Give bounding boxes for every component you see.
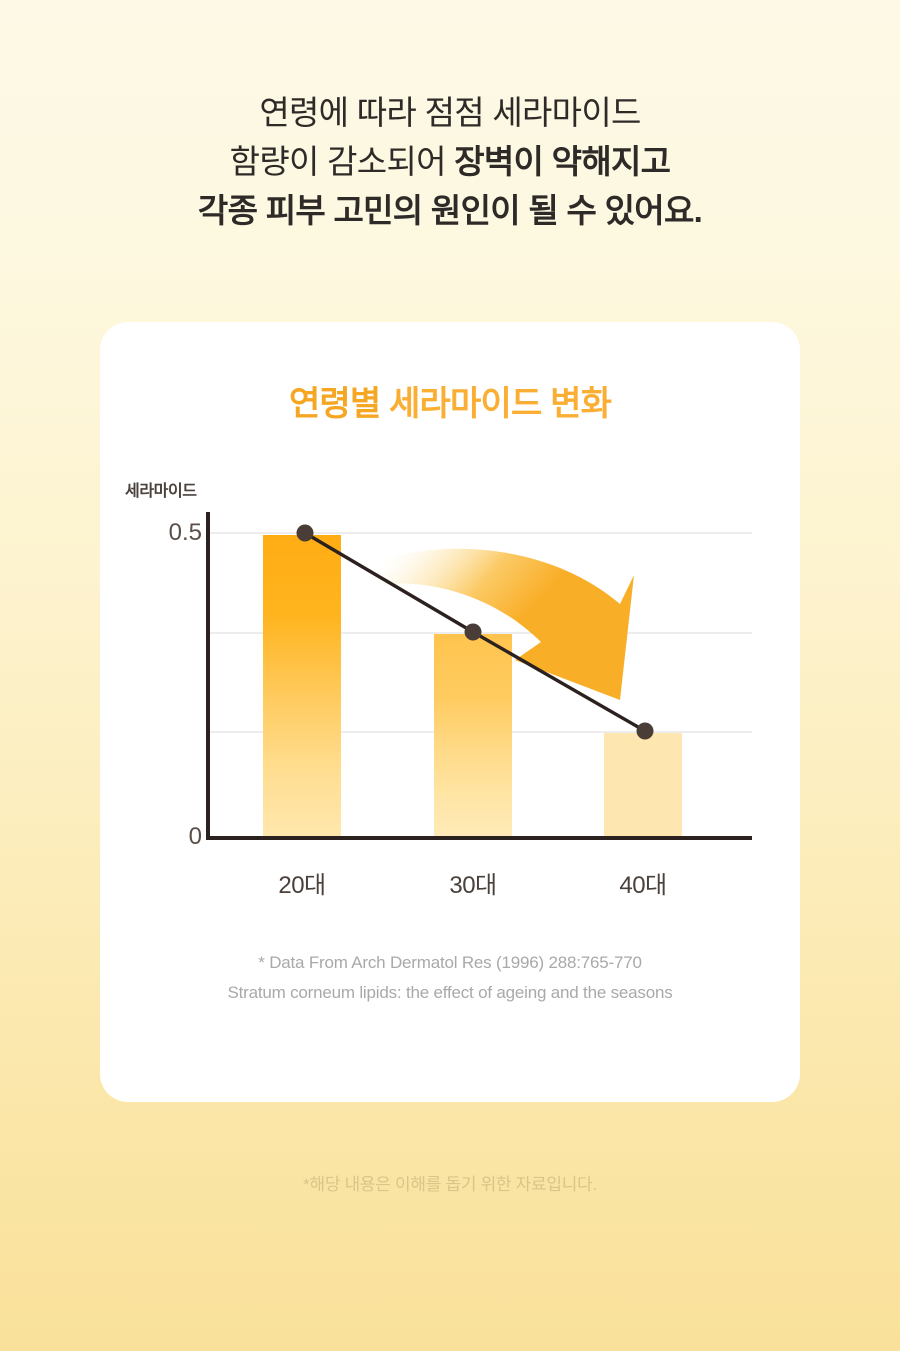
chart-card: 연령별 세라마이드 변화 세라마이드 0.5 0 <box>100 322 800 1102</box>
chart-source-footnote: * Data From Arch Dermatol Res (1996) 288… <box>100 948 800 1008</box>
footnote-line-2: Stratum corneum lipids: the effect of ag… <box>100 978 800 1008</box>
y-axis-line <box>206 512 210 840</box>
bar-30s <box>434 634 512 840</box>
y-axis-label: 세라마이드 <box>125 477 197 501</box>
headline-line-3-text: 각종 피부 고민의 원인이 될 수 있어요. <box>198 192 702 229</box>
gridline-upper <box>208 532 752 534</box>
y-tick-label-bottom: 0 <box>120 823 202 851</box>
bar-40s <box>604 733 682 840</box>
x-tick-label-30s: 30대 <box>403 865 543 900</box>
y-tick-label-top: 0.5 <box>120 519 202 547</box>
bar-20s <box>263 535 341 840</box>
headline-line-2: 함량이 감소되어 장벽이 약해지고 <box>0 137 900 186</box>
headline-line-3: 각종 피부 고민의 원인이 될 수 있어요. <box>0 186 900 235</box>
disclaimer-note: *해당 내용은 이해를 돕기 위한 자료입니다. <box>0 1170 900 1195</box>
x-tick-label-20s: 20대 <box>232 865 372 900</box>
headline: 연령에 따라 점점 세라마이드 함량이 감소되어 장벽이 약해지고 각종 피부 … <box>0 88 900 235</box>
footnote-line-1: * Data From Arch Dermatol Res (1996) 288… <box>100 948 800 978</box>
headline-line-1: 연령에 따라 점점 세라마이드 <box>0 88 900 137</box>
x-tick-label-40s: 40대 <box>573 865 713 900</box>
headline-line-2-regular: 함량이 감소되어 <box>230 143 455 180</box>
x-axis-line <box>206 836 752 840</box>
headline-line-1-text: 연령에 따라 점점 세라마이드 <box>259 94 640 131</box>
headline-line-2-bold: 장벽이 약해지고 <box>454 143 670 180</box>
